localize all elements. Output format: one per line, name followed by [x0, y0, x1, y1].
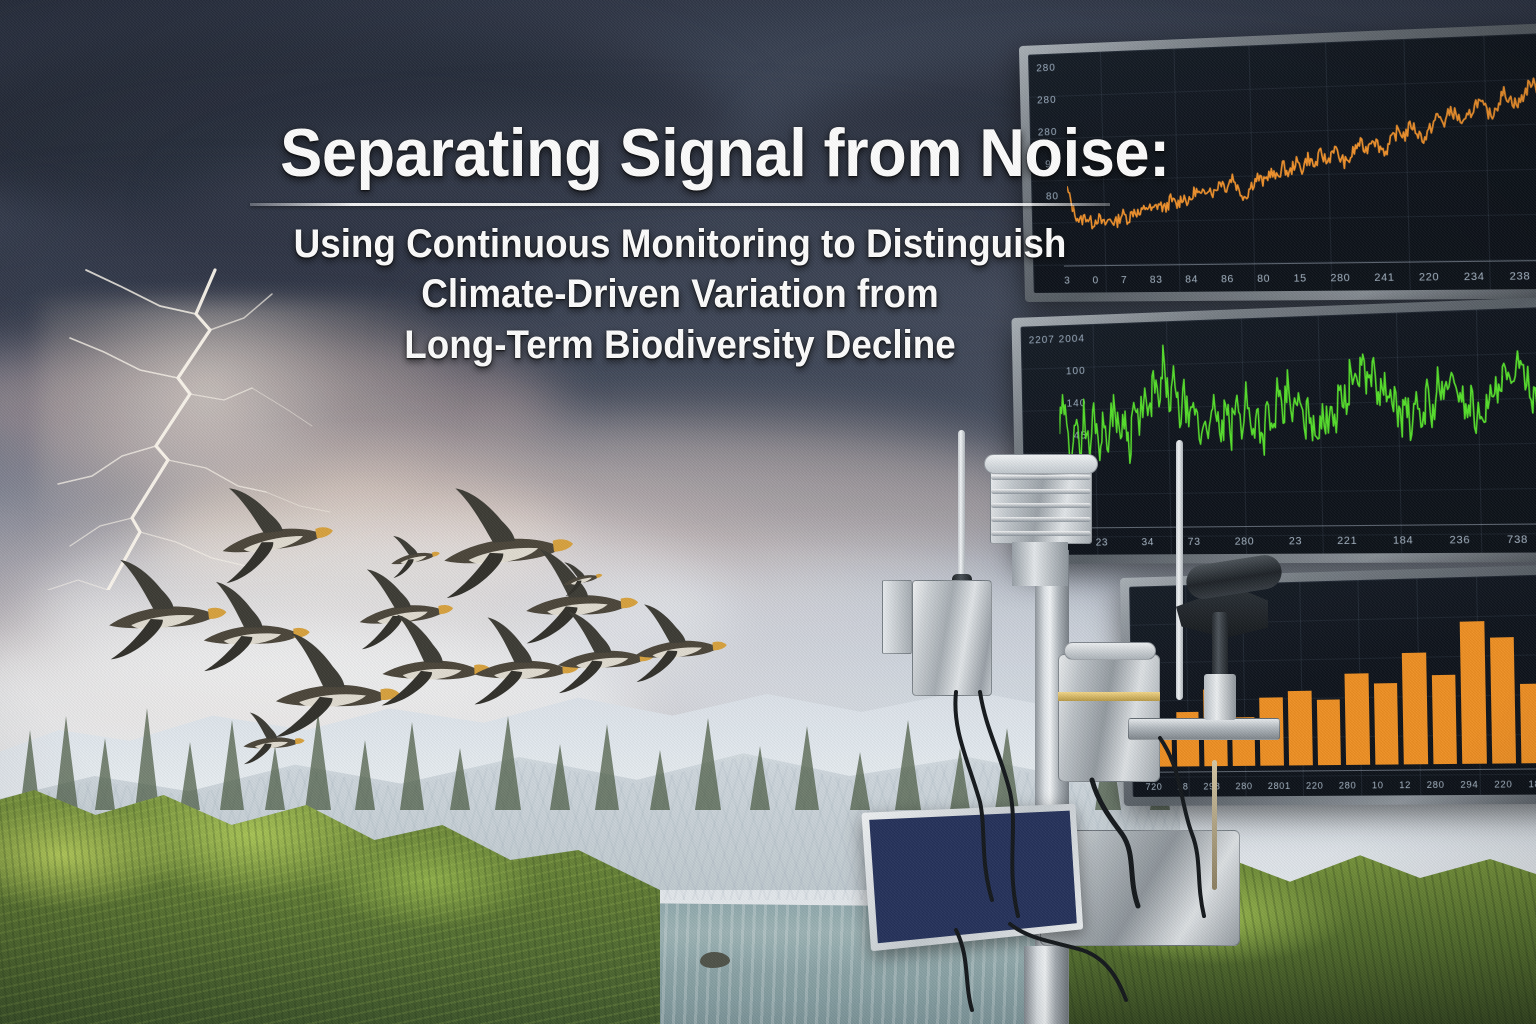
x-tick: 220 — [1419, 272, 1440, 284]
x-tick: 220 — [1494, 779, 1512, 790]
x-tick: 294 — [1460, 779, 1478, 790]
x-tick: 84 — [1185, 274, 1198, 285]
antenna-whip-logger — [1212, 760, 1217, 890]
station-cables — [860, 430, 1280, 1024]
x-tick: 7 — [1121, 275, 1128, 286]
x-tick: 86 — [1221, 274, 1234, 285]
x-tick: 241 — [1374, 272, 1395, 284]
x-tick: 280 — [1339, 780, 1357, 790]
x-tick: 180 — [1528, 779, 1536, 790]
x-tick: 12 — [1399, 780, 1411, 790]
x-tick: 221 — [1337, 536, 1357, 548]
bar — [1520, 683, 1536, 763]
bar — [1432, 675, 1458, 764]
poster-canvas: 280 280 280 90 80 3078384868015280241220… — [0, 0, 1536, 1024]
bar — [1316, 700, 1341, 765]
x-tick: 83 — [1150, 275, 1163, 286]
bar — [1345, 673, 1370, 765]
y-tick: 280 — [1036, 64, 1056, 75]
subtitle-line-2: Climate-Driven Variation from — [284, 269, 1075, 319]
bar — [1374, 683, 1399, 765]
x-tick: 23 — [1289, 536, 1302, 548]
x-tick: 236 — [1449, 535, 1470, 547]
bar — [1402, 652, 1428, 764]
weather-monitoring-station[interactable] — [860, 430, 1280, 1024]
x-tick: 80 — [1257, 274, 1270, 286]
x-tick: 738 — [1507, 534, 1528, 546]
x-tick: 238 — [1509, 271, 1530, 283]
x-tick: 15 — [1293, 273, 1306, 285]
bar — [1490, 637, 1517, 763]
bar — [1288, 691, 1313, 766]
x-tick: 220 — [1306, 780, 1324, 790]
x-tick: 10 — [1372, 780, 1384, 790]
subtitle-line-3: Long-Term Biodiversity Decline — [284, 320, 1075, 370]
x-tick: 280 — [1427, 780, 1445, 790]
x-tick: 184 — [1393, 535, 1414, 547]
bar — [1460, 621, 1487, 763]
title-divider — [250, 203, 1110, 206]
x-tick: 280 — [1330, 273, 1350, 285]
page-title: Separating Signal from Noise: — [280, 118, 1080, 189]
subtitle-line-1: Using Continuous Monitoring to Distingui… — [284, 219, 1075, 269]
x-tick: 234 — [1464, 271, 1485, 283]
y-tick: 280 — [1037, 96, 1057, 107]
title-block: Separating Signal from Noise: Using Cont… — [250, 118, 1110, 370]
